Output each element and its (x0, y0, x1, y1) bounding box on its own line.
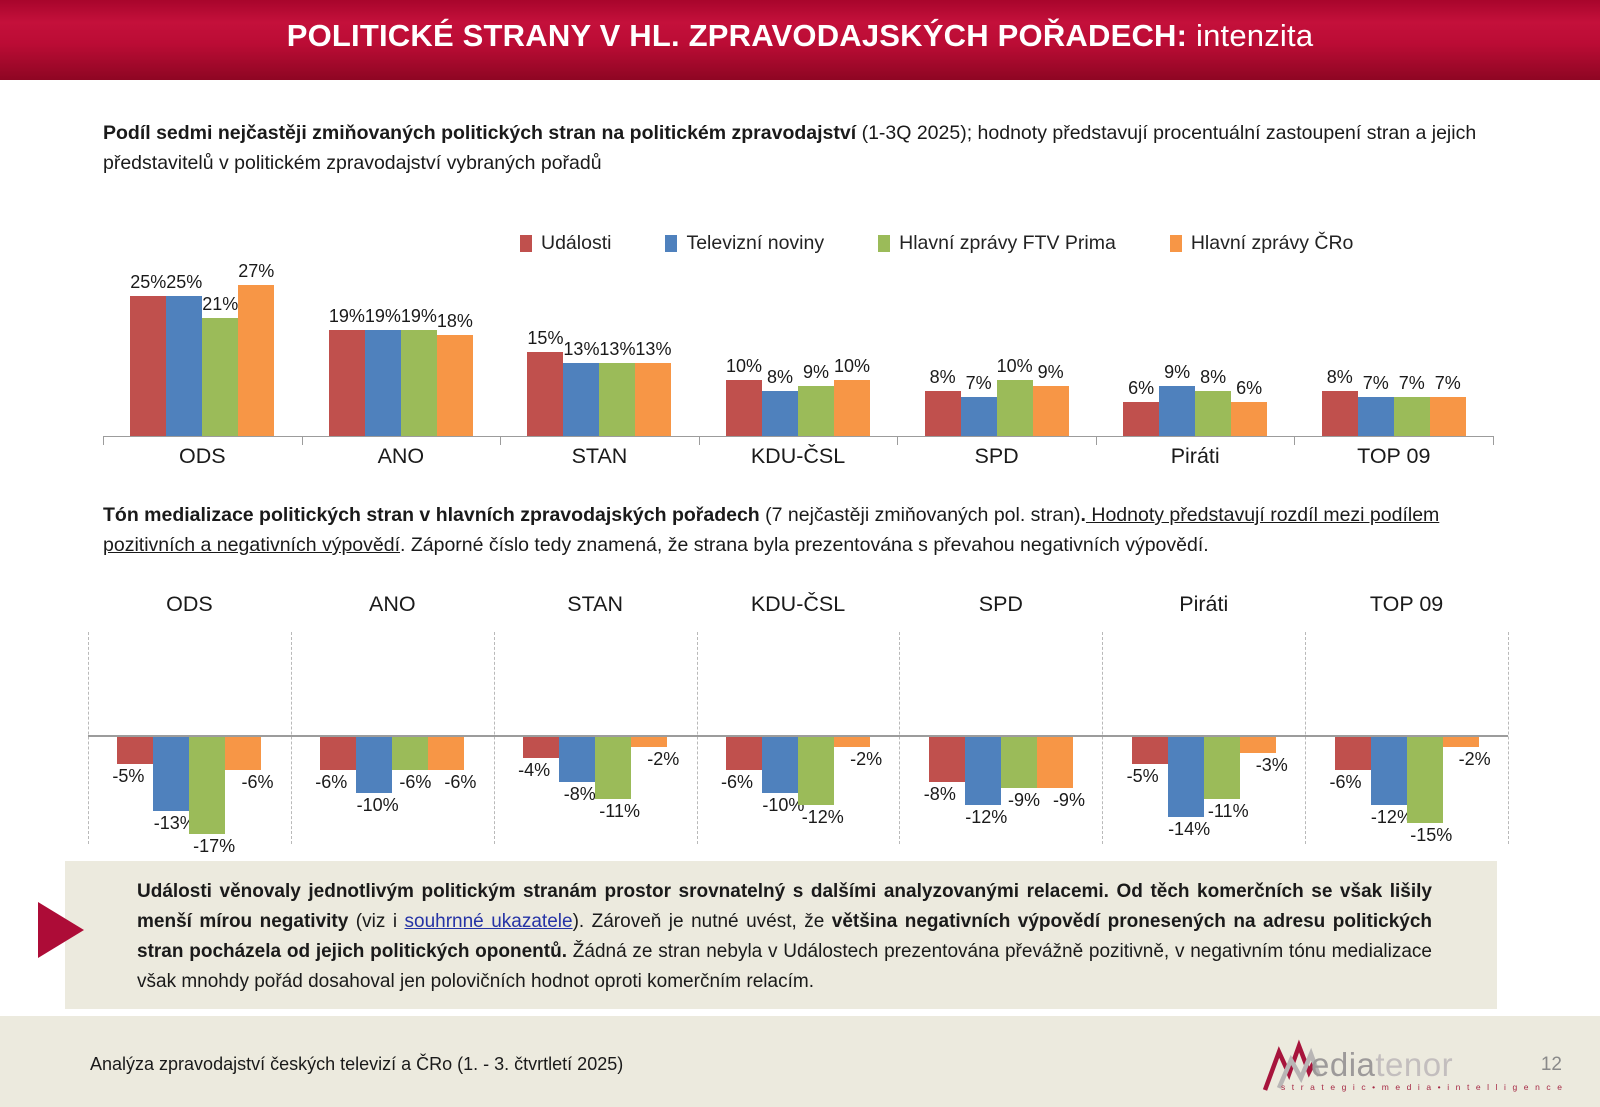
bar-value-label: 15% (527, 328, 563, 349)
page-number: 12 (1541, 1054, 1562, 1076)
bar-value-label: -6% (399, 772, 431, 793)
chart-intenzita-axis-line (103, 436, 1493, 437)
bar-value-label: -11% (1208, 801, 1249, 822)
bar[interactable]: -10% (356, 735, 392, 793)
bar-value-label: -14% (1168, 819, 1210, 840)
bar-value-label: -11% (599, 801, 640, 822)
bar-value-label: -9% (1008, 790, 1040, 811)
bar[interactable]: 10% (997, 380, 1033, 436)
bar-value-label: -15% (1410, 825, 1452, 846)
category-label: STAN (500, 444, 699, 469)
axis-tick (1493, 436, 1494, 445)
axis-tick (897, 436, 898, 445)
bar-value-label: 13% (563, 339, 599, 360)
bar[interactable]: 9% (798, 386, 834, 436)
bar-value-label: -3% (1256, 755, 1288, 776)
bar[interactable]: -5% (1132, 735, 1168, 764)
legend-label: Hlavní zprávy FTV Prima (899, 232, 1116, 255)
bar-value-label: -6% (315, 772, 347, 793)
chart-ton-plot: -5%-13%-17%-6%-6%-10%-6%-6%-4%-8%-11%-2%… (88, 632, 1508, 844)
category-label: Piráti (1096, 444, 1295, 469)
chart-intenzita-group-ano: 19%19%19%18%ANO (302, 268, 501, 436)
bar[interactable]: -2% (1443, 735, 1479, 747)
legend-swatch-icon (1170, 235, 1182, 252)
bar-value-label: -8% (564, 784, 596, 805)
intro-bold-text: Podíl sedmi nejčastěji zmiňovaných polit… (103, 122, 856, 144)
bar[interactable]: -3% (1240, 735, 1276, 753)
bar-value-label: 7% (1399, 373, 1425, 394)
bar-value-label: 13% (599, 339, 635, 360)
bar[interactable]: 27% (238, 285, 274, 436)
bar-value-label: -4% (518, 760, 550, 781)
tone-bold-text: Tón medializace politických stran v hlav… (103, 504, 760, 526)
bar[interactable]: 25% (166, 296, 202, 436)
chart-intenzita-groups: 25%25%21%27%ODS19%19%19%18%ANO15%13%13%1… (103, 268, 1493, 436)
callout-mid-2: ). Zároveň je nutné uvést, že (573, 911, 832, 932)
chart-ton-groups: -5%-13%-17%-6%-6%-10%-6%-6%-4%-8%-11%-2%… (88, 632, 1508, 844)
chart-intenzita-plot: 25%25%21%27%ODS19%19%19%18%ANO15%13%13%1… (103, 268, 1493, 436)
bar-value-label: -17% (193, 836, 235, 857)
bar[interactable]: 10% (834, 380, 870, 436)
bar-value-label: 19% (365, 306, 401, 327)
chart-ton-group-spd: -8%-12%-9%-9% (899, 632, 1102, 844)
bar-value-label: -6% (1330, 772, 1362, 793)
bar-value-label: -12% (802, 807, 844, 828)
bar-cluster: -5%-14%-11%-3% (1132, 735, 1276, 817)
bar[interactable]: -10% (762, 735, 798, 793)
bar[interactable]: -8% (929, 735, 965, 782)
page-title: POLITICKÉ STRANY V HL. ZPRAVODAJSKÝCH PO… (0, 18, 1600, 54)
category-label: SPD (897, 444, 1096, 469)
bar[interactable]: 15% (527, 352, 563, 436)
bar[interactable]: 13% (599, 363, 635, 436)
bar-value-label: 8% (930, 367, 956, 388)
bar[interactable]: -13% (153, 735, 189, 811)
chart-ton-group-top-09: -6%-12%-15%-2% (1305, 632, 1508, 844)
bar-value-label: 9% (803, 362, 829, 383)
brand-tagline: s t r a t e g i c • m e d i a • i n t e … (1281, 1082, 1564, 1092)
bar-value-label: 18% (437, 311, 473, 332)
bar-value-label: 10% (726, 356, 762, 377)
bar-value-label: 7% (1363, 373, 1389, 394)
bar-value-label: 7% (966, 373, 992, 394)
legend-cro[interactable]: Hlavní zprávy ČRo (1170, 232, 1354, 255)
chart-ton-group-ods: -5%-13%-17%-6% (88, 632, 291, 844)
chart-ton-group-kdu-sl: -6%-10%-12%-2% (697, 632, 900, 844)
chart-intenzita-group-kdu-sl: 10%8%9%10%KDU-ČSL (699, 268, 898, 436)
page-title-light: intenzita (1196, 18, 1313, 53)
bar-cluster: -6%-10%-6%-6% (320, 735, 464, 793)
callout-box: Události věnovaly jednotlivým politickým… (65, 861, 1497, 1009)
axis-tick (302, 436, 303, 445)
legend-swatch-icon (878, 235, 890, 252)
bar[interactable]: 7% (1394, 397, 1430, 436)
bar-value-label: 13% (635, 339, 671, 360)
chart-intenzita-group-ods: 25%25%21%27%ODS (103, 268, 302, 436)
bar-value-label: 10% (997, 356, 1033, 377)
category-label: KDU-ČSL (699, 444, 898, 469)
slide-title-bar: POLITICKÉ STRANY V HL. ZPRAVODAJSKÝCH PO… (0, 0, 1600, 80)
bar-cluster: 25%25%21%27% (130, 268, 274, 436)
bar-value-label: 8% (1327, 367, 1353, 388)
bar[interactable]: -6% (428, 735, 464, 770)
bar-value-label: 8% (767, 367, 793, 388)
bar-cluster: 8%7%7%7% (1322, 268, 1466, 436)
bar-value-label: -6% (721, 772, 753, 793)
chart-ton-medializace: ODSANOSTANKDU-ČSLSPDPirátiTOP 09 -5%-13%… (88, 592, 1508, 847)
bar-value-label: -5% (1127, 766, 1159, 787)
bar[interactable]: 13% (635, 363, 671, 436)
bar-value-label: -2% (1459, 749, 1491, 770)
bar-cluster: -8%-12%-9%-9% (929, 735, 1073, 805)
bar-cluster: -6%-10%-12%-2% (726, 735, 870, 805)
tone-paragraph: Tón medializace politických stran v hlav… (103, 500, 1493, 560)
bar[interactable]: 7% (961, 397, 997, 436)
legend-label: Televizní noviny (686, 232, 824, 255)
bar-cluster: -6%-12%-15%-2% (1335, 735, 1479, 823)
bar-value-label: 9% (1164, 362, 1190, 383)
bar[interactable]: -6% (1335, 735, 1371, 770)
group-separator (1508, 632, 1509, 844)
bar-value-label: 25% (130, 272, 166, 293)
bar-value-label: 19% (329, 306, 365, 327)
bar-value-label: -2% (647, 749, 679, 770)
bar[interactable]: -6% (392, 735, 428, 770)
category-label: ODS (103, 444, 302, 469)
bar[interactable]: -9% (1037, 735, 1073, 788)
bar-value-label: -2% (850, 749, 882, 770)
bar-value-label: 9% (1038, 362, 1064, 383)
bar-value-label: 6% (1128, 378, 1154, 399)
legend-televizni-noviny[interactable]: Televizní noviny (665, 232, 824, 255)
bar[interactable]: 8% (925, 391, 961, 436)
legend-label: Události (541, 232, 611, 255)
axis-tick (500, 436, 501, 445)
bar[interactable]: 10% (726, 380, 762, 436)
legend-udalosti[interactable]: Události (520, 232, 611, 255)
bar[interactable]: 8% (762, 391, 798, 436)
bar[interactable]: -6% (225, 735, 261, 770)
chart-ton-category-labels: ODSANOSTANKDU-ČSLSPDPirátiTOP 09 (88, 592, 1508, 626)
bar[interactable]: 8% (1322, 391, 1358, 436)
bar[interactable]: -2% (834, 735, 870, 747)
mediatenor-logo: ediаtenor s t r a t e g i c • m e d i a … (1253, 1038, 1488, 1094)
bar[interactable]: -11% (1204, 735, 1240, 799)
bar[interactable]: 19% (365, 330, 401, 436)
bar[interactable]: -4% (523, 735, 559, 758)
footer-source-text: Analýza zpravodajství českých televizí a… (90, 1054, 623, 1075)
callout-mid-1: (viz i (348, 911, 404, 932)
chart-legend: UdálostiTelevizní novinyHlavní zprávy FT… (520, 228, 1480, 258)
brand-media-text: ediа (1311, 1046, 1375, 1083)
bar[interactable]: 25% (130, 296, 166, 436)
tone-rest-text: . Záporné číslo tedy znamená, že strana … (400, 534, 1209, 556)
bar[interactable]: -15% (1407, 735, 1443, 823)
chart-ton-group-stan: -4%-8%-11%-2% (494, 632, 697, 844)
bar-value-label: -6% (242, 772, 274, 793)
bar-value-label: -9% (1053, 790, 1085, 811)
bar[interactable]: -12% (1371, 735, 1407, 805)
bar-value-label: -6% (444, 772, 476, 793)
intro-paragraph: Podíl sedmi nejčastěji zmiňovaných polit… (103, 118, 1493, 178)
bar-value-label: -5% (112, 766, 144, 787)
bar[interactable]: -8% (559, 735, 595, 782)
bar-cluster: 8%7%10%9% (925, 268, 1069, 436)
bar-cluster: 6%9%8%6% (1123, 268, 1267, 436)
brand-tenor-text: tenor (1375, 1046, 1453, 1083)
bar-value-label: -10% (357, 795, 399, 816)
bar-value-label: 8% (1200, 367, 1226, 388)
category-label: ODS (88, 592, 291, 626)
bar[interactable]: 9% (1033, 386, 1069, 436)
bar[interactable]: 19% (401, 330, 437, 436)
slide-footer: Analýza zpravodajství českých televizí a… (0, 1016, 1600, 1107)
bar[interactable]: -17% (189, 735, 225, 834)
mediatenor-wordmark: ediаtenor (1311, 1046, 1453, 1084)
legend-label: Hlavní zprávy ČRo (1191, 232, 1354, 255)
bar[interactable]: -9% (1001, 735, 1037, 788)
bar-cluster: 10%8%9%10% (726, 268, 870, 436)
bar[interactable]: 7% (1430, 397, 1466, 436)
bar[interactable]: -12% (798, 735, 834, 805)
legend-swatch-icon (665, 235, 677, 252)
callout-text: Události věnovaly jednotlivým politickým… (137, 877, 1432, 997)
page-title-bold: POLITICKÉ STRANY V HL. ZPRAVODAJSKÝCH PO… (287, 18, 1187, 53)
chart-ton-group-pir-ti: -5%-14%-11%-3% (1102, 632, 1305, 844)
bar-value-label: 7% (1435, 373, 1461, 394)
axis-tick (699, 436, 700, 445)
bar-value-label: 10% (834, 356, 870, 377)
chart-intenzita: 25%25%21%27%ODS19%19%19%18%ANO15%13%13%1… (103, 268, 1493, 478)
bar[interactable]: -12% (965, 735, 1001, 805)
bar-cluster: -4%-8%-11%-2% (523, 735, 667, 799)
bar[interactable]: -6% (726, 735, 762, 770)
category-label: ANO (302, 444, 501, 469)
category-label: KDU-ČSL (697, 592, 900, 626)
bar[interactable]: 13% (563, 363, 599, 436)
bar-value-label: 25% (166, 272, 202, 293)
chart-intenzita-group-spd: 8%7%10%9%SPD (897, 268, 1096, 436)
bar[interactable]: -5% (117, 735, 153, 764)
bar-cluster: 19%19%19%18% (329, 268, 473, 436)
bar[interactable]: 19% (329, 330, 365, 436)
callout-arrow-icon (38, 902, 84, 958)
axis-tick (103, 436, 104, 445)
bar-value-label: 21% (202, 294, 238, 315)
bar[interactable]: 9% (1159, 386, 1195, 436)
bar[interactable]: 6% (1123, 402, 1159, 436)
bar-value-label: 6% (1236, 378, 1262, 399)
bar[interactable]: 18% (437, 335, 473, 436)
bar-cluster: -5%-13%-17%-6% (117, 735, 261, 834)
bar[interactable]: 8% (1195, 391, 1231, 436)
tone-normal-text: (7 nejčastěji zmiňovaných pol. stran) (760, 504, 1081, 526)
legend-ftv-prima[interactable]: Hlavní zprávy FTV Prima (878, 232, 1116, 255)
bar[interactable]: 6% (1231, 402, 1267, 436)
bar[interactable]: 21% (202, 318, 238, 436)
bar-value-label: 27% (238, 261, 274, 282)
souhrnne-ukazatele-link[interactable]: souhrnné ukazatele (405, 911, 573, 932)
bar[interactable]: -6% (320, 735, 356, 770)
bar[interactable]: 7% (1358, 397, 1394, 436)
category-label: TOP 09 (1294, 444, 1493, 469)
bar[interactable]: -11% (595, 735, 631, 799)
legend-swatch-icon (520, 235, 532, 252)
chart-ton-group-ano: -6%-10%-6%-6% (291, 632, 494, 844)
category-label: ANO (291, 592, 494, 626)
bar[interactable]: -14% (1168, 735, 1204, 817)
category-label: SPD (899, 592, 1102, 626)
bar-value-label: -12% (965, 807, 1007, 828)
axis-tick (1096, 436, 1097, 445)
category-label: TOP 09 (1305, 592, 1508, 626)
category-label: STAN (494, 592, 697, 626)
chart-intenzita-group-top-09: 8%7%7%7%TOP 09 (1294, 268, 1493, 436)
bar[interactable]: -2% (631, 735, 667, 747)
bar-value-label: 19% (401, 306, 437, 327)
axis-tick (1294, 436, 1295, 445)
chart-intenzita-group-stan: 15%13%13%13%STAN (500, 268, 699, 436)
chart-ton-zero-line (88, 735, 1508, 737)
chart-intenzita-group-pir-ti: 6%9%8%6%Piráti (1096, 268, 1295, 436)
bar-value-label: -8% (924, 784, 956, 805)
bar-cluster: 15%13%13%13% (527, 268, 671, 436)
category-label: Piráti (1102, 592, 1305, 626)
